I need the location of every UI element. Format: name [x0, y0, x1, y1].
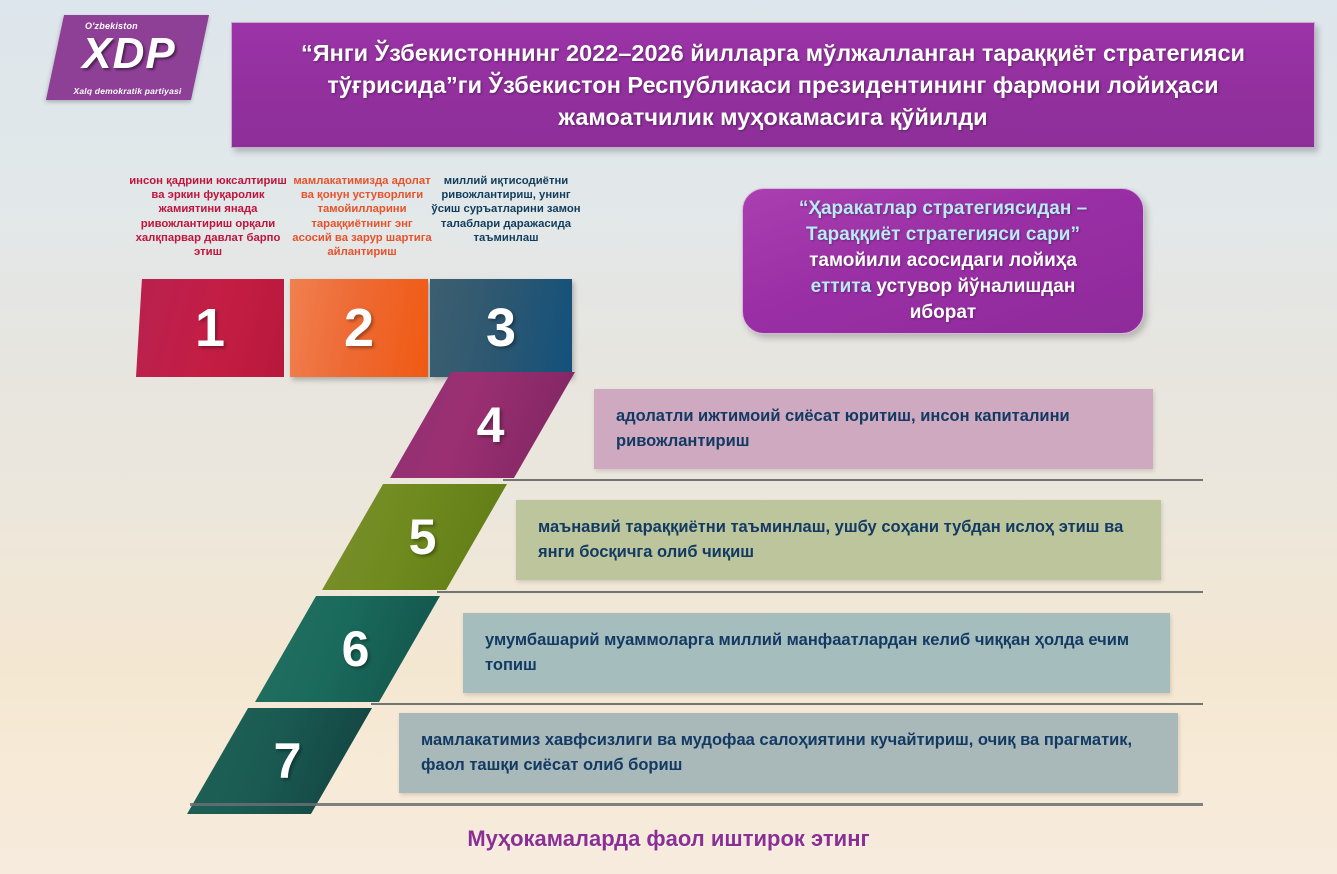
priority-text-4: адолатли ижтимоий сиёсат юритиш, инсон к… [594, 404, 1153, 454]
priority-text-5: маънавий тараққиётни таъминлаш, ушбу соҳ… [516, 515, 1161, 565]
header-title: “Янги Ўзбекистоннинг 2022–2026 йилларга … [232, 37, 1314, 133]
number-label-1: 1 [195, 301, 225, 355]
priority-shape-7: 7 [187, 708, 372, 814]
separator-rule-4 [190, 803, 1203, 806]
priority-bar-7: мамлакатимиз хавфсизлиги ва мудофаа сало… [399, 713, 1178, 793]
column-caption-3: миллий иқтисодиётни ривожлантириш, унинг… [427, 174, 585, 245]
number-label-2: 2 [344, 301, 374, 355]
callout-line-2: Тараққиёт стратегияси сари” [806, 224, 1080, 245]
number-label-3: 3 [486, 301, 516, 355]
separator-rule-1 [503, 479, 1203, 481]
callout-line-3: тамойили асосидаги лойиҳа [809, 250, 1077, 271]
header-banner: “Янги Ўзбекистоннинг 2022–2026 йилларга … [231, 22, 1315, 148]
priority-shape-4: 4 [390, 372, 575, 478]
priority-bar-5: маънавий тараққиётни таъминлаш, ушбу соҳ… [516, 500, 1161, 580]
logo-acronym: XDP [69, 29, 189, 79]
footer-call-to-action: Муҳокамаларда фаол иштирок этинг [0, 826, 1337, 852]
number-block-3: 3 [430, 279, 572, 377]
priority-number-5: 5 [409, 512, 437, 562]
callout-line-1: “Ҳаракатлар стратегиясидан – [799, 198, 1087, 219]
column-caption-1: инсон қадрини юксалтириш ва эркин фуқаро… [128, 174, 288, 259]
column-caption-2: мамлакатимизда адолат ва қонун устуворли… [292, 174, 432, 259]
separator-rule-3 [371, 703, 1203, 705]
separator-rule-2 [437, 591, 1203, 593]
callout-highlight: еттита [811, 276, 871, 297]
callout-line-4-rest: устувор йўналишдан [871, 276, 1075, 297]
infographic-canvas: O'zbekiston XDP Xalq demokratik partiyas… [0, 0, 1337, 874]
logo-party-name: Xalq demokratik partiyasi [55, 86, 200, 96]
party-logo: O'zbekiston XDP Xalq demokratik partiyas… [55, 15, 200, 100]
priority-shape-5: 5 [322, 484, 507, 590]
priority-text-7: мамлакатимиз хавфсизлиги ва мудофаа сало… [399, 728, 1178, 778]
priority-bar-4: адолатли ижтимоий сиёсат юритиш, инсон к… [594, 389, 1153, 469]
priority-text-6: умумбашарий муаммоларга миллий манфаатла… [463, 628, 1170, 678]
priority-number-7: 7 [274, 736, 302, 786]
number-block-1: 1 [136, 279, 284, 377]
callout-text: “Ҳаракатлар стратегиясидан – Тараққиёт с… [785, 196, 1101, 326]
priority-number-6: 6 [342, 624, 370, 674]
priority-number-4: 4 [477, 400, 505, 450]
priority-shape-6: 6 [255, 596, 440, 702]
priority-bar-6: умумбашарий муаммоларга миллий манфаатла… [463, 613, 1170, 693]
number-block-2: 2 [290, 279, 428, 377]
callout-line-5: иборат [910, 302, 977, 323]
callout-box: “Ҳаракатлар стратегиясидан – Тараққиёт с… [742, 188, 1144, 334]
